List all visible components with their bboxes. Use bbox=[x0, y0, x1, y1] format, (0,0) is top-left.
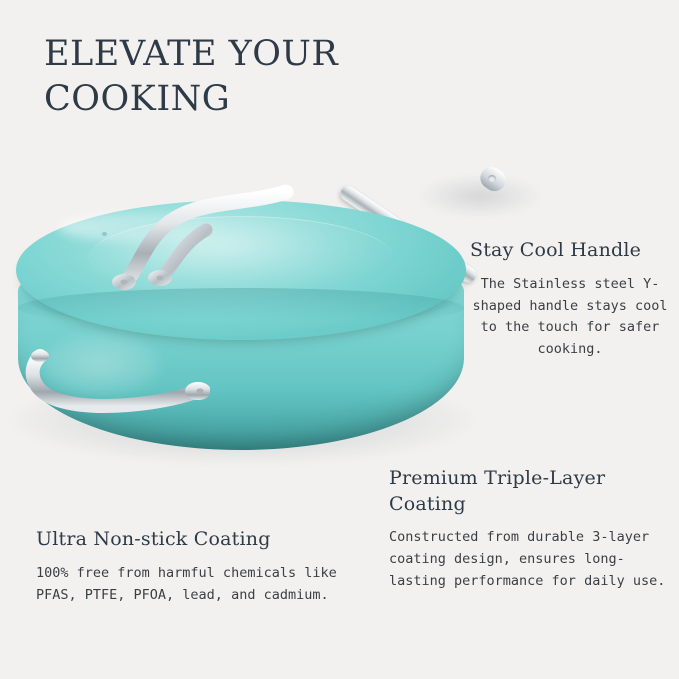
feature-body-stay-cool-handle: The Stainless steel Y-shaped handle stay… bbox=[470, 274, 670, 361]
feature-title-ultra-non-stick-coating: Ultra Non-stick Coating bbox=[36, 527, 366, 553]
pan-lid-dot bbox=[102, 232, 107, 236]
lid-y-handle-icon bbox=[110, 178, 310, 298]
page-title: ELEVATE YOUR COOKING bbox=[44, 32, 464, 122]
page-title-line2: COOKING bbox=[44, 77, 464, 122]
lid-y-handle bbox=[110, 178, 310, 298]
feature-title-stay-cool-handle: Stay Cool Handle bbox=[470, 238, 670, 264]
page-title-line1: ELEVATE YOUR bbox=[44, 34, 338, 74]
side-helper-handle bbox=[10, 330, 210, 420]
feature-body-ultra-non-stick-coating: 100% free from harmful chemicals like PF… bbox=[36, 563, 366, 607]
feature-title-premium-triple-layer-coating: Premium Triple-Layer Coating bbox=[389, 466, 669, 517]
feature-premium-triple-layer-coating: Premium Triple-Layer Coating Constructed… bbox=[389, 466, 669, 593]
product-image bbox=[0, 120, 520, 480]
feature-stay-cool-handle: Stay Cool Handle The Stainless steel Y-s… bbox=[470, 238, 670, 361]
feature-body-premium-triple-layer-coating: Constructed from durable 3-layer coating… bbox=[389, 527, 669, 593]
product-infographic: ELEVATE YOUR COOKING bbox=[0, 0, 679, 679]
feature-ultra-non-stick-coating: Ultra Non-stick Coating 100% free from h… bbox=[36, 527, 366, 606]
side-helper-handle-icon bbox=[10, 330, 210, 420]
long-handle-hang-hole-icon bbox=[488, 175, 496, 182]
